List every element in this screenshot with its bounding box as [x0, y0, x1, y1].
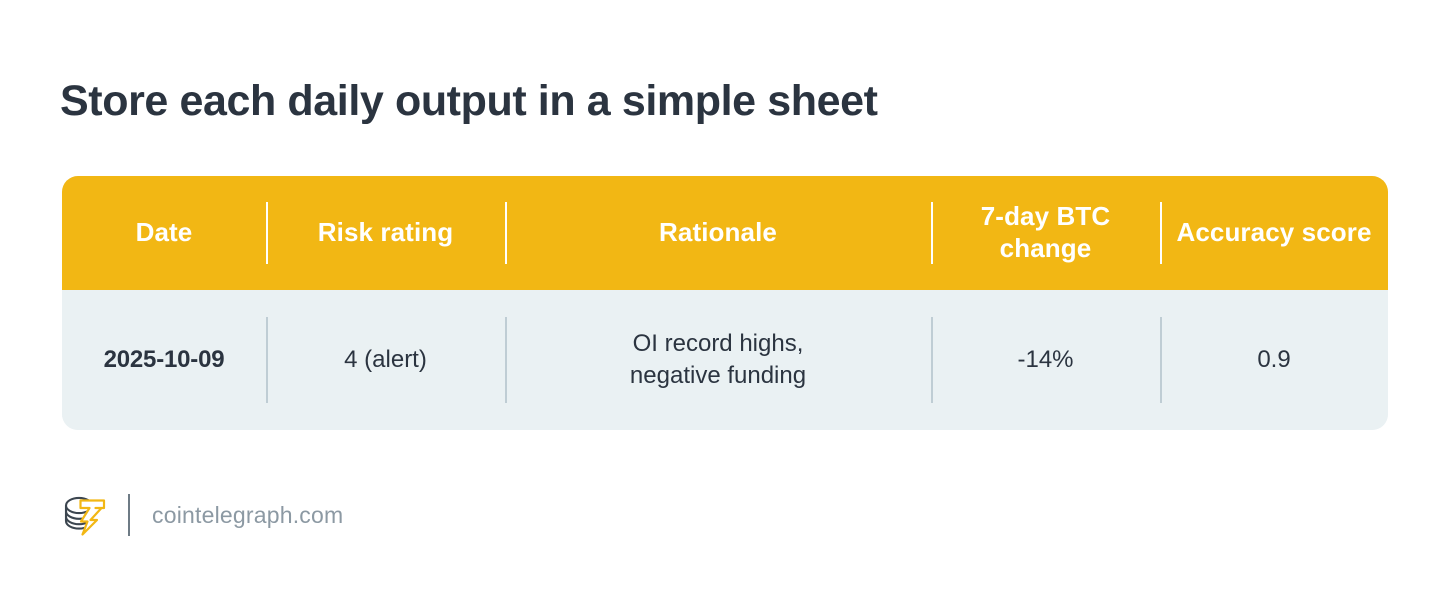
table-header-row: Date Risk rating Rationale 7-day BTC cha… [62, 176, 1388, 290]
page-root: Store each daily output in a simple shee… [0, 0, 1450, 593]
column-header-label: Rationale [659, 217, 777, 249]
column-header-rationale[interactable]: Rationale [505, 176, 931, 290]
footer-site-label: cointelegraph.com [152, 504, 343, 527]
cell-date-value: 2025-10-09 [104, 344, 225, 376]
column-header-label: 7-day BTC change [941, 201, 1150, 265]
cell-rationale-line-1: OI record highs, [633, 330, 804, 357]
cell-accuracy-score: 0.9 [1160, 290, 1388, 430]
column-header-label: Date [136, 217, 193, 249]
column-header-label: Accuracy score [1176, 217, 1371, 249]
cell-date: 2025-10-09 [62, 290, 266, 430]
footer-divider [128, 494, 130, 536]
cell-risk-rating: 4 (alert) [266, 290, 505, 430]
table-row: 2025-10-09 4 (alert) OI record highs, ne… [62, 290, 1388, 430]
cointelegraph-logo-icon [60, 492, 108, 538]
column-header-accuracy-score[interactable]: Accuracy score [1160, 176, 1388, 290]
column-header-btc-change[interactable]: 7-day BTC change [931, 176, 1160, 290]
column-header-label: Risk rating [318, 217, 453, 249]
cell-btc-change: -14% [931, 290, 1160, 430]
cell-rationale: OI record highs, negative funding [505, 290, 931, 430]
cell-rationale-value: OI record highs, negative funding [630, 328, 806, 393]
data-table: Date Risk rating Rationale 7-day BTC cha… [62, 176, 1388, 430]
footer: cointelegraph.com [60, 487, 343, 543]
page-title: Store each daily output in a simple shee… [60, 77, 1380, 126]
column-header-risk-rating[interactable]: Risk rating [266, 176, 505, 290]
cell-rationale-line-2: negative funding [630, 362, 806, 389]
column-header-date[interactable]: Date [62, 176, 266, 290]
cell-btc-change-value: -14% [1017, 344, 1073, 376]
cell-risk-rating-value: 4 (alert) [344, 344, 427, 376]
cell-accuracy-score-value: 0.9 [1257, 344, 1290, 376]
